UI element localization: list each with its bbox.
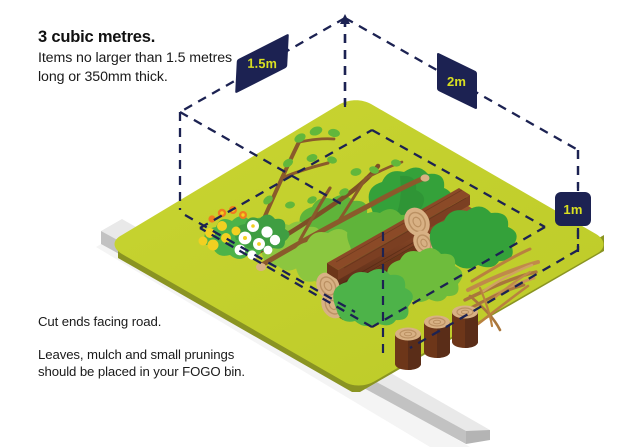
note-cut-ends: Cut ends facing road. — [38, 313, 248, 330]
infographic-canvas: 1.5m 2m 1m 3 cubic metres. Items no larg… — [0, 0, 634, 448]
kerb-front-edge — [466, 430, 490, 444]
dimension-label-height-text: 1m — [563, 202, 582, 217]
notes-block: Cut ends facing road. Leaves, mulch and … — [38, 313, 248, 380]
headline-block: 3 cubic metres. Items no larger than 1.5… — [38, 28, 238, 86]
dimension-label-depth-text: 1.5m — [247, 56, 277, 72]
headline-title: 3 cubic metres. — [38, 28, 238, 47]
dimension-label-height: 1m — [555, 192, 591, 226]
stump-1 — [395, 328, 421, 371]
stump-2 — [424, 316, 450, 359]
headline-subtitle: Items no larger than 1.5 metres long or … — [38, 49, 238, 86]
dimension-label-width-text: 2m — [447, 73, 466, 88]
note-fogo-bin: Leaves, mulch and small prunings should … — [38, 346, 248, 380]
